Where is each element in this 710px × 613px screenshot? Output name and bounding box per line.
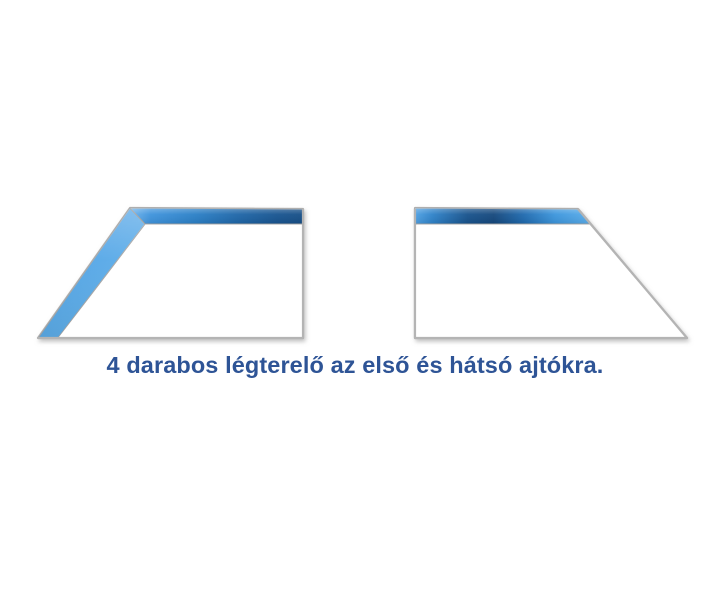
caption-text: 4 darabos légterelő az első és hátsó ajt… bbox=[0, 352, 710, 379]
product-figure: 4 darabos légterelő az első és hátsó ajt… bbox=[0, 0, 710, 613]
rear-door-band-top-sheen bbox=[415, 208, 590, 224]
front-door-band-top-sheen bbox=[130, 208, 303, 224]
rear-door-inner-panel bbox=[416, 225, 686, 337]
deflector-illustration bbox=[0, 0, 710, 350]
deflector-svg bbox=[0, 0, 710, 350]
